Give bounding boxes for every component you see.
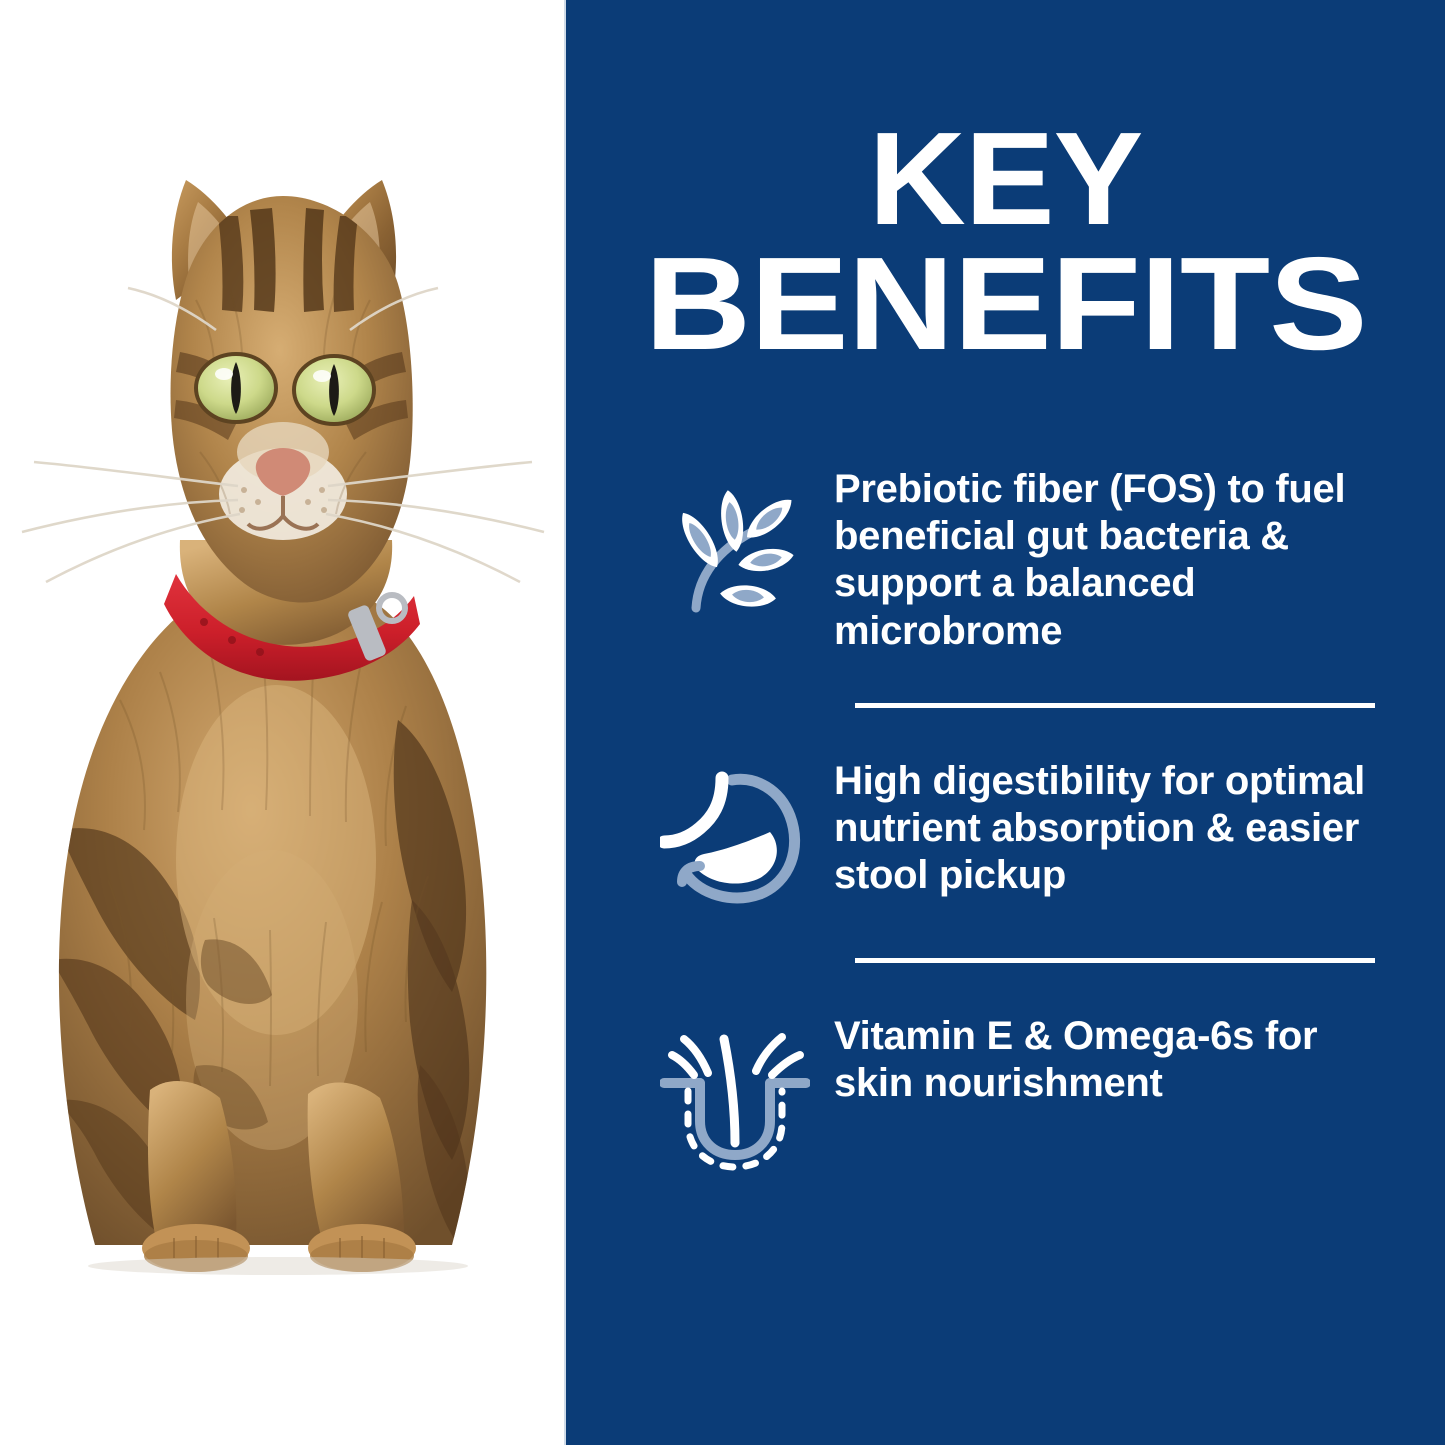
benefit-item-skin-nourishment: Vitamin E & Omega-6s for skin nourishmen… (566, 1009, 1445, 1175)
page-title: KEY BENEFITS (566, 118, 1445, 365)
benefits-list: Prebiotic fiber (FOS) to fuel beneficial… (566, 462, 1445, 1175)
title-line-benefits: BENEFITS (513, 243, 1445, 364)
benefit-item-digestibility: High digestibility for optimal nutrient … (566, 754, 1445, 910)
cat-eye-right (294, 356, 374, 424)
leaf-sprig-icon (650, 462, 820, 628)
cat-photo-panel (0, 0, 566, 1445)
hair-follicle-icon (650, 1009, 820, 1175)
benefits-panel: KEY BENEFITS (566, 0, 1445, 1445)
title-line-key: KEY (557, 118, 1445, 239)
cat-photo (0, 0, 566, 1445)
key-benefits-infographic: KEY BENEFITS (0, 0, 1445, 1445)
cat-illustration (0, 0, 566, 1445)
benefit-item-prebiotic-fiber: Prebiotic fiber (FOS) to fuel beneficial… (566, 462, 1445, 655)
benefit-text: Prebiotic fiber (FOS) to fuel beneficial… (820, 462, 1385, 655)
benefit-text: High digestibility for optimal nutrient … (820, 754, 1385, 900)
benefit-text: Vitamin E & Omega-6s for skin nourishmen… (820, 1009, 1385, 1107)
cat-eye-left (196, 354, 276, 422)
stomach-icon (650, 754, 820, 910)
